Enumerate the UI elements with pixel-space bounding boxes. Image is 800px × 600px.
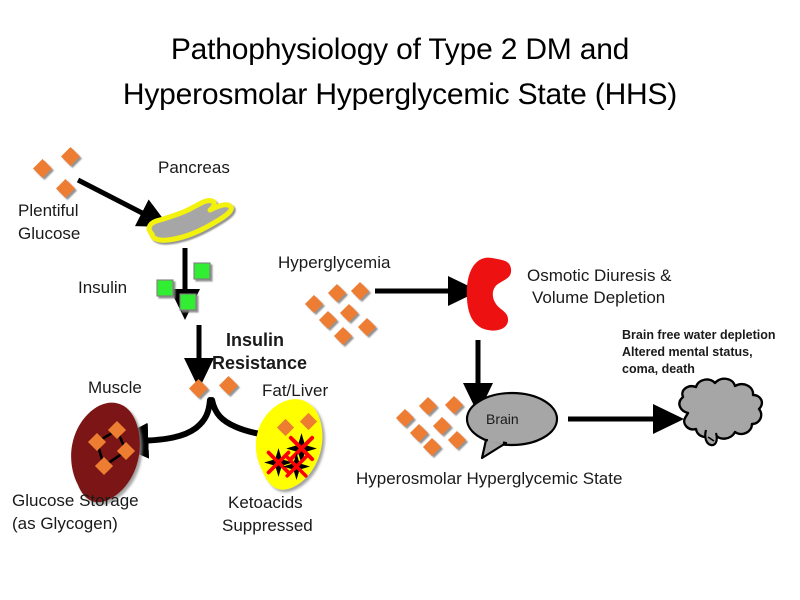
pancreas-shape bbox=[149, 201, 231, 241]
label-plentiful-glucose-line2: Glucose bbox=[18, 223, 80, 244]
glucose-diamond-pair-fork bbox=[189, 376, 238, 398]
label-brain: Brain bbox=[486, 409, 519, 430]
glucose-diamond-cluster-plentiful bbox=[33, 147, 80, 198]
label-insulin-resistance-line2: Resistance bbox=[212, 353, 307, 374]
label-fat-liver: Fat/Liver bbox=[262, 380, 328, 401]
hyperglycemia-diamond-cluster bbox=[305, 282, 376, 345]
diagram-canvas: Pathophysiology of Type 2 DM and Hyperos… bbox=[0, 0, 800, 600]
label-pancreas: Pancreas bbox=[158, 157, 230, 178]
label-muscle: Muscle bbox=[88, 377, 142, 398]
arrow-glucose-to-pancreas bbox=[78, 180, 148, 216]
label-ketoacids-line1: Ketoacids bbox=[228, 492, 303, 513]
label-brain-outcome-line1: Brain free water depletion bbox=[622, 327, 776, 343]
label-osmotic-diuresis-line2: Volume Depletion bbox=[532, 287, 665, 308]
label-insulin: Insulin bbox=[78, 277, 127, 298]
label-hyperglycemia: Hyperglycemia bbox=[278, 252, 390, 273]
shriveled-brain-shape bbox=[679, 379, 761, 445]
kidney-shape bbox=[467, 258, 511, 331]
label-plentiful-glucose-line1: Plentiful bbox=[18, 200, 78, 221]
label-glucose-storage-line2: (as Glycogen) bbox=[12, 513, 118, 534]
label-glucose-storage-line1: Glucose Storage bbox=[12, 490, 139, 511]
arrow-fork-to-muscle bbox=[140, 400, 210, 441]
label-brain-outcome-line3: coma, death bbox=[622, 361, 695, 377]
label-insulin-resistance-line1: Insulin bbox=[226, 330, 284, 351]
label-hhs-caption: Hyperosmolar Hyperglycemic State bbox=[356, 468, 622, 489]
label-ketoacids-line2: Suppressed bbox=[222, 515, 313, 536]
label-brain-outcome-line2: Altered mental status, bbox=[622, 344, 753, 360]
label-osmotic-diuresis-line1: Osmotic Diuresis & bbox=[527, 265, 672, 286]
hhs-diamond-cluster bbox=[396, 396, 466, 456]
